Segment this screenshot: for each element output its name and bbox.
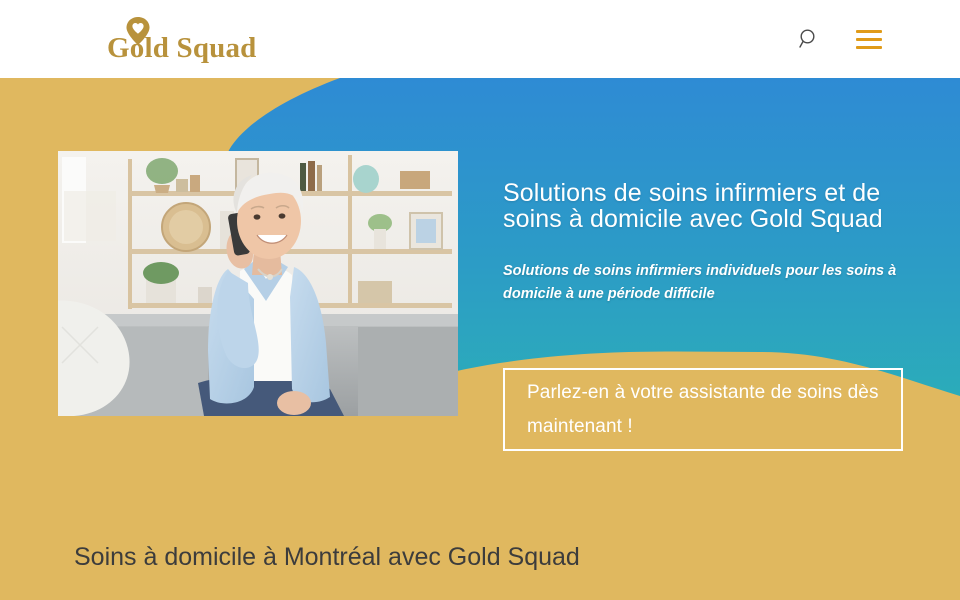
header-actions: [788, 0, 960, 78]
cta-button-label: Parlez-en à votre assistante de soins dè…: [505, 376, 901, 444]
menu-bar-2: [856, 38, 882, 41]
section-heading: Soins à domicile à Montréal avec Gold Sq…: [74, 540, 580, 574]
cta-button[interactable]: Parlez-en à votre assistante de soins dè…: [503, 368, 903, 451]
hero-copy: Solutions de soins infirmiers et de soin…: [503, 180, 903, 306]
search-icon[interactable]: [788, 18, 830, 60]
site-header: Gold Squad: [0, 0, 960, 78]
menu-bar-3: [856, 46, 882, 49]
logo-text: Gold Squad: [107, 32, 257, 65]
hamburger-menu-icon[interactable]: [848, 18, 890, 60]
logo[interactable]: Gold Squad: [107, 16, 267, 64]
hero-photo: [58, 151, 458, 416]
menu-bar-1: [856, 30, 882, 33]
hero-title: Solutions de soins infirmiers et de soin…: [503, 180, 903, 232]
landing-page: Gold Squad: [0, 0, 960, 600]
hero-subtitle: Solutions de soins infirmiers individuel…: [503, 260, 903, 306]
